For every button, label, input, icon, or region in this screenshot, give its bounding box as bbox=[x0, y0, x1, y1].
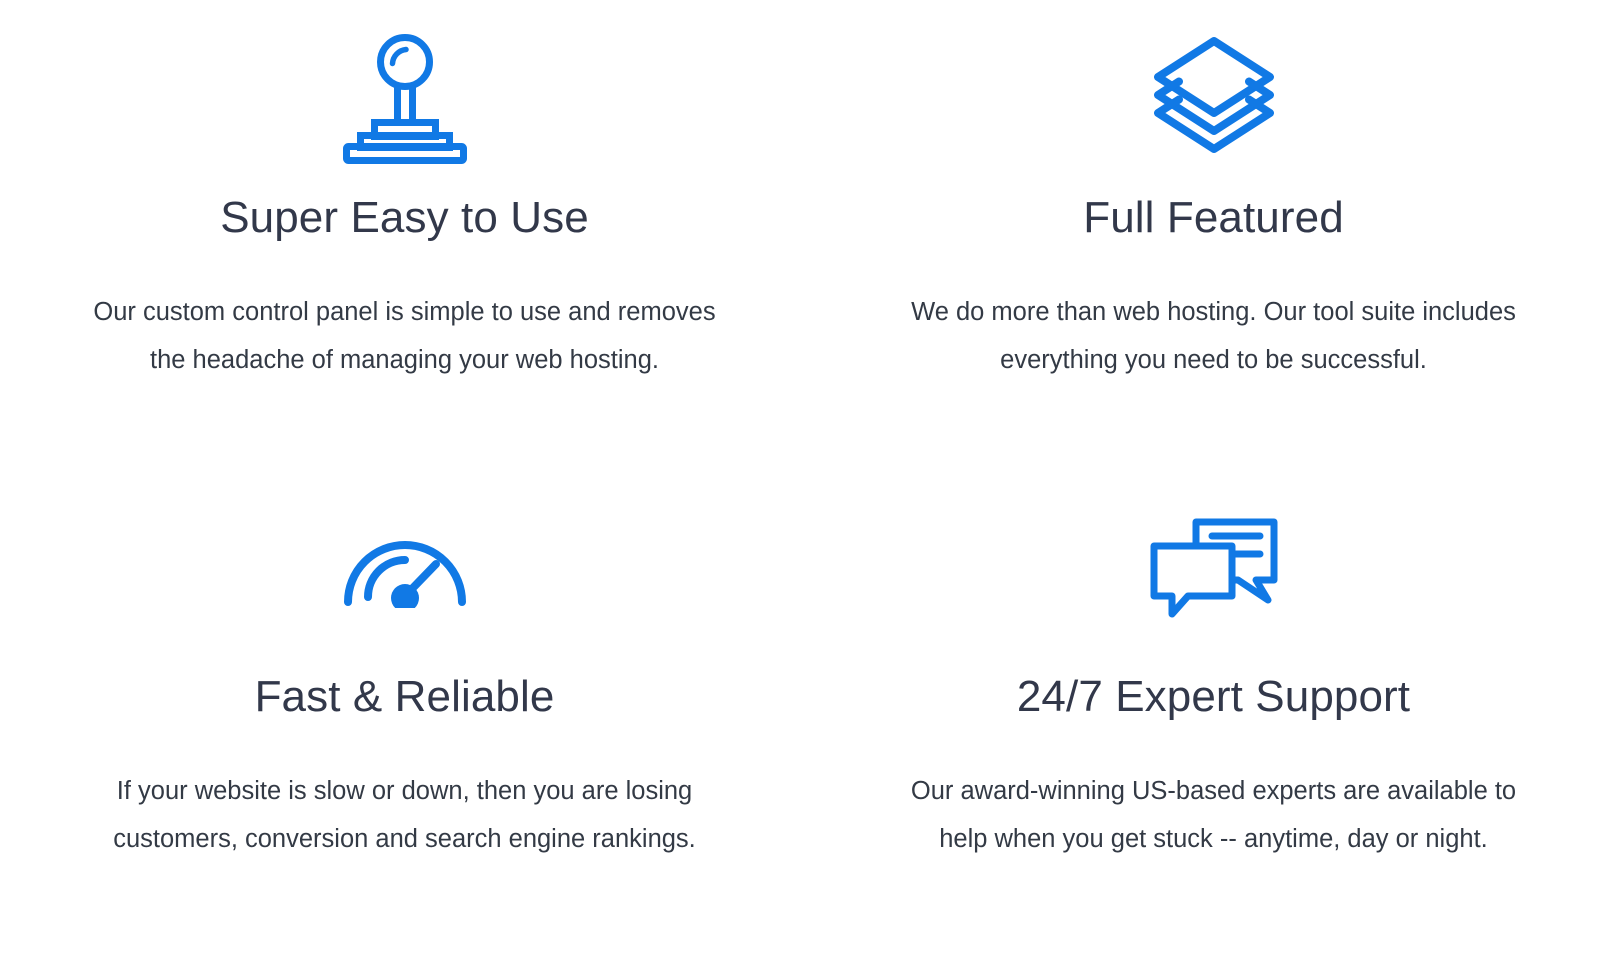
layers-icon bbox=[1150, 22, 1278, 172]
speedometer-icon bbox=[341, 506, 469, 626]
feature-title: Super Easy to Use bbox=[220, 194, 589, 242]
feature-description: If your website is slow or down, then yo… bbox=[75, 768, 735, 864]
feature-title: Fast & Reliable bbox=[255, 673, 555, 721]
feature-card-super-easy-to-use: Super Easy to Use Our custom control pan… bbox=[0, 0, 809, 484]
feature-card-fast-and-reliable: Fast & Reliable If your website is slow … bbox=[0, 484, 809, 968]
chat-bubbles-icon bbox=[1150, 506, 1278, 626]
feature-description: Our custom control panel is simple to us… bbox=[75, 289, 735, 385]
features-grid: Super Easy to Use Our custom control pan… bbox=[0, 0, 1618, 968]
feature-title: Full Featured bbox=[1083, 194, 1344, 242]
feature-title: 24/7 Expert Support bbox=[1017, 673, 1410, 721]
feature-description: Our award-winning US-based experts are a… bbox=[884, 768, 1544, 864]
joystick-icon bbox=[343, 22, 467, 172]
feature-description: We do more than web hosting. Our tool su… bbox=[884, 289, 1544, 385]
feature-card-expert-support: 24/7 Expert Support Our award-winning US… bbox=[809, 484, 1618, 968]
feature-card-full-featured: Full Featured We do more than web hostin… bbox=[809, 0, 1618, 484]
